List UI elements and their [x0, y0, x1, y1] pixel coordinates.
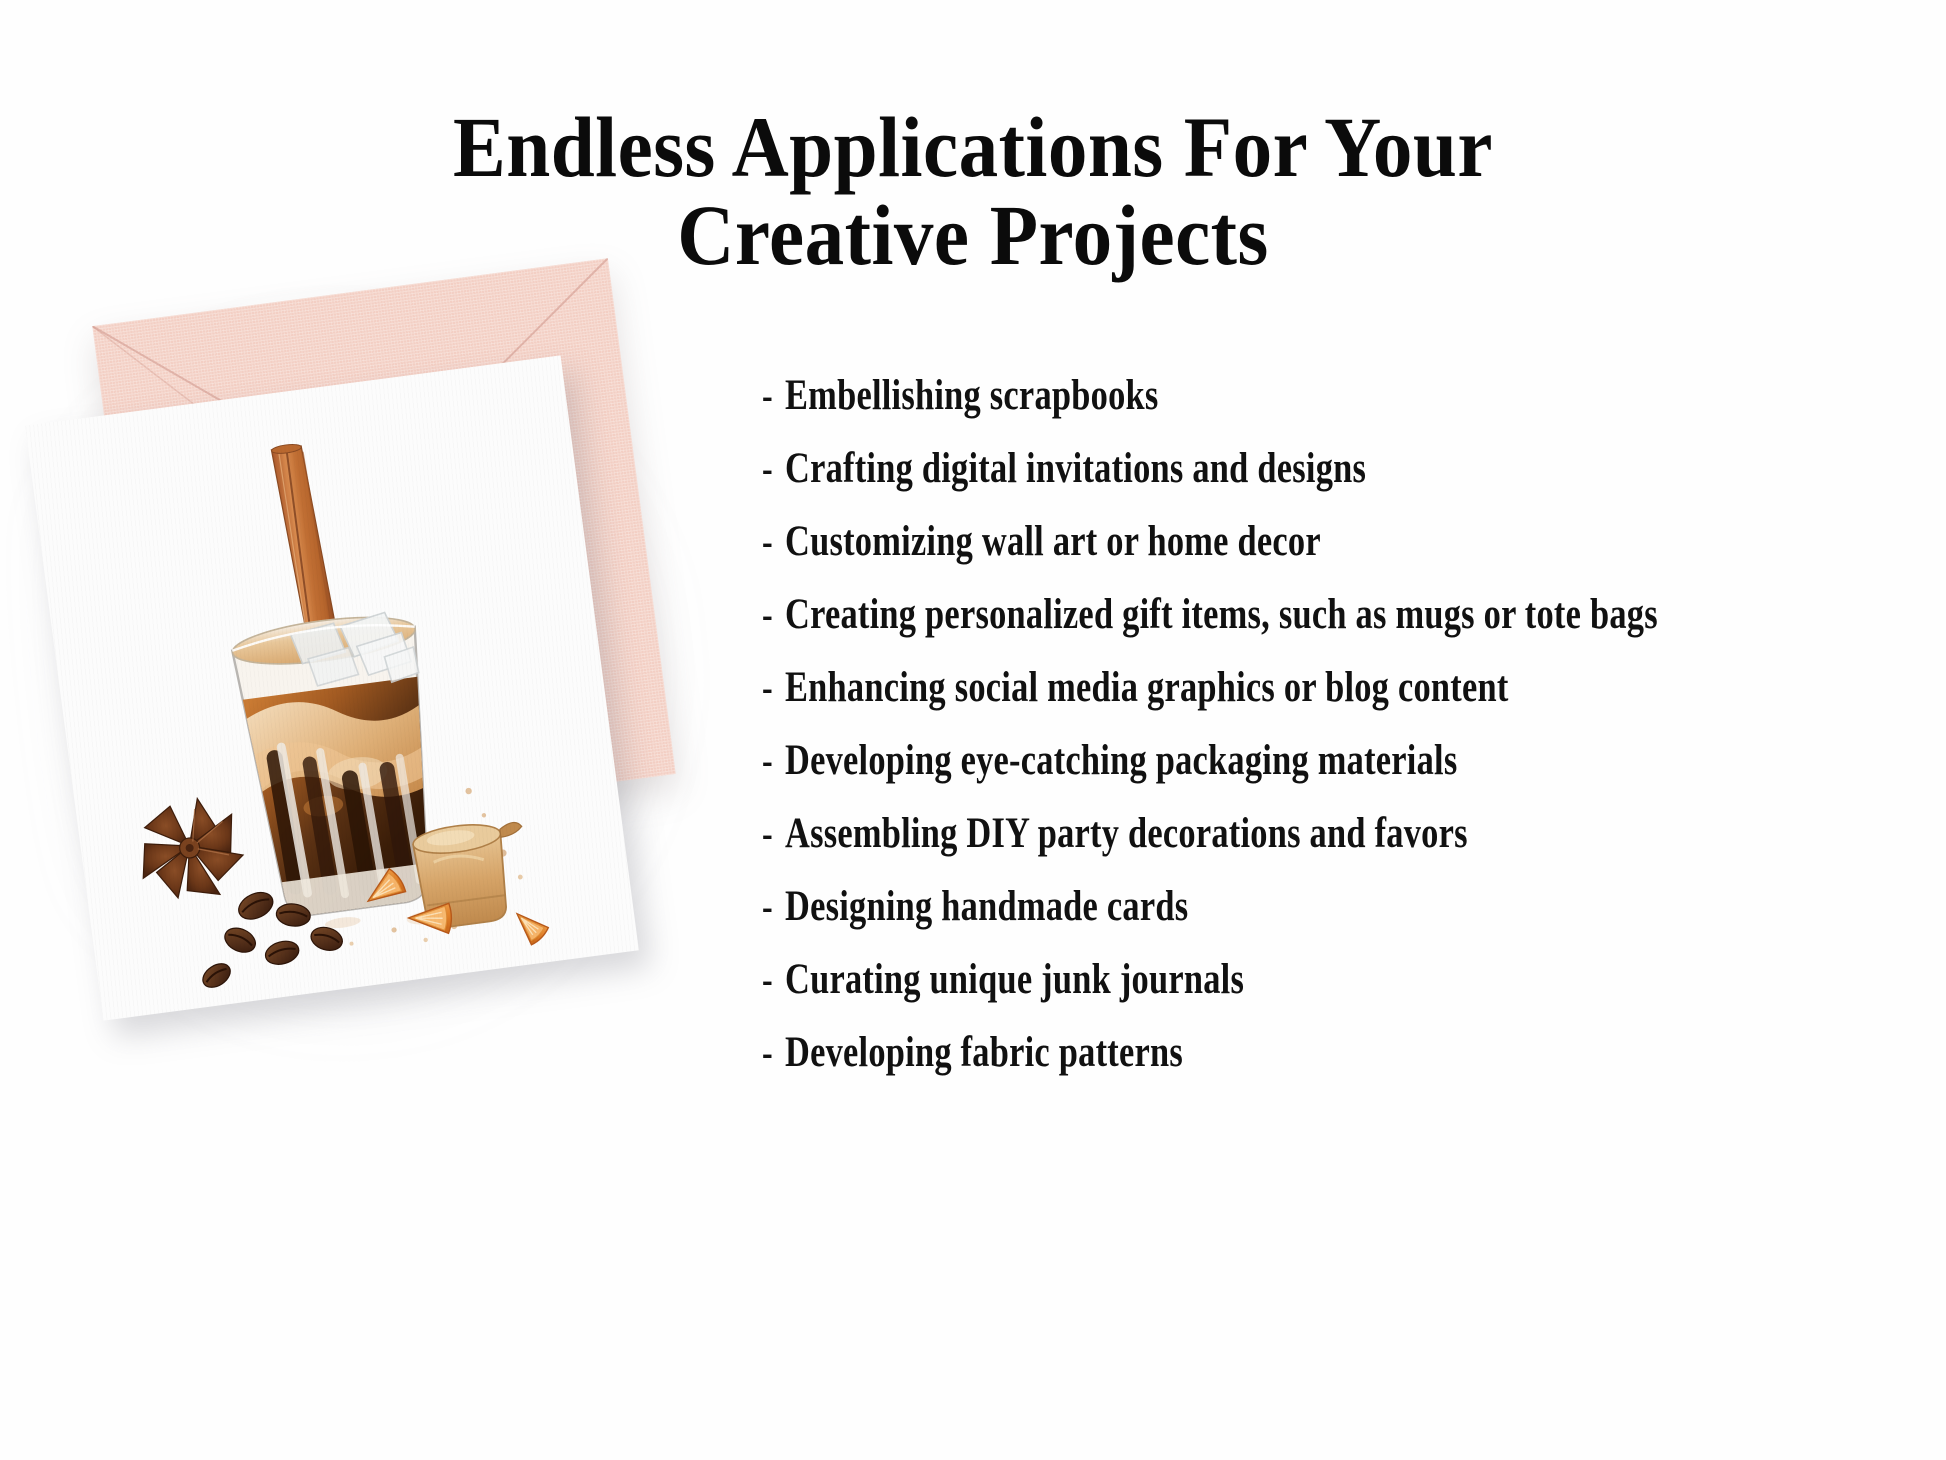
- list-item: - Creating personalized gift items, such…: [762, 591, 1942, 638]
- list-item: - Designing handmade cards: [762, 883, 1942, 930]
- list-item: - Curating unique junk journals: [762, 956, 1942, 1003]
- list-item-label: Designing handmade cards: [785, 885, 1188, 928]
- list-item: - Customizing wall art or home decor: [762, 518, 1942, 565]
- iced-coffee-illustration: [25, 355, 639, 1020]
- list-bullet-dash: -: [762, 372, 773, 419]
- list-bullet-dash: -: [762, 445, 773, 492]
- list-bullet-dash: -: [762, 518, 773, 565]
- list-item-label: Developing fabric patterns: [785, 1031, 1183, 1074]
- list-item-label: Curating unique junk journals: [785, 958, 1244, 1001]
- list-item-label: Embellishing scrapbooks: [785, 374, 1159, 417]
- applications-list: - Embellishing scrapbooks - Crafting dig…: [762, 372, 1942, 1102]
- product-mockup: [20, 250, 780, 1150]
- list-bullet-dash: -: [762, 591, 773, 638]
- list-item: - Developing fabric patterns: [762, 1029, 1942, 1076]
- list-item: - Enhancing social media graphics or blo…: [762, 664, 1942, 711]
- list-item-label: Assembling DIY party decorations and fav…: [785, 812, 1468, 855]
- list-item-label: Enhancing social media graphics or blog …: [785, 666, 1509, 709]
- list-bullet-dash: -: [762, 956, 773, 1003]
- list-item: - Crafting digital invitations and desig…: [762, 445, 1942, 492]
- list-item-label: Customizing wall art or home decor: [785, 520, 1321, 563]
- list-item-label: Crafting digital invitations and designs: [785, 447, 1366, 490]
- list-bullet-dash: -: [762, 810, 773, 857]
- greeting-card: [25, 355, 639, 1020]
- list-bullet-dash: -: [762, 664, 773, 711]
- list-item-label: Creating personalized gift items, such a…: [785, 593, 1658, 636]
- list-item: - Embellishing scrapbooks: [762, 372, 1942, 419]
- title-line-1: Endless Applications For Your: [78, 104, 1868, 192]
- list-item: - Developing eye-catching packaging mate…: [762, 737, 1942, 784]
- list-bullet-dash: -: [762, 737, 773, 784]
- list-bullet-dash: -: [762, 883, 773, 930]
- star-anise: [134, 794, 248, 904]
- list-bullet-dash: -: [762, 1029, 773, 1076]
- list-item-label: Developing eye-catching packaging materi…: [785, 739, 1457, 782]
- poster-canvas: Endless Applications For Your Creative P…: [0, 0, 1946, 1460]
- list-item: - Assembling DIY party decorations and f…: [762, 810, 1942, 857]
